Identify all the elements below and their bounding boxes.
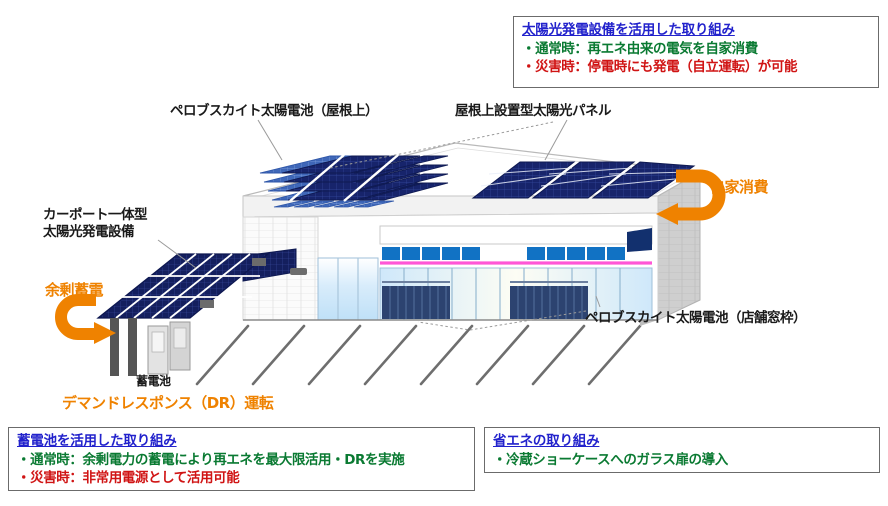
battery-storage-units <box>148 322 190 374</box>
label-surplus-storage: 余剰蓄電 <box>45 281 103 300</box>
signage-blue-right <box>527 247 625 260</box>
label-rooftop-panel: 屋根上設置型太陽光パネル <box>455 103 611 120</box>
label-carport-line2: 太陽光発電設備 <box>43 224 134 240</box>
signage-blue-left <box>382 247 480 260</box>
callout-battery-line-normal: ・通常時：余剰電力の蓄電により再エネを最大限活用・DRを実施 <box>17 452 466 470</box>
callout-solar-title: 太陽光発電設備を活用した取り組み <box>522 22 870 40</box>
callout-saving-title: 省エネの取り組み <box>493 433 871 451</box>
label-perovskite-roof: ペロブスカイト太陽電池（屋根上） <box>170 103 378 120</box>
callout-battery-title: 蓄電池を活用した取り組み <box>17 433 466 451</box>
label-self-consumption: 自家消費 <box>710 178 768 197</box>
surplus-storage-arrow <box>61 300 116 344</box>
callout-energy-saving: 省エネの取り組み ・冷蔵ショーケースへのガラス扉の導入 <box>484 427 880 473</box>
callout-solar-line-disaster: ・災害時：停電時にも発電（自立運転）が可能 <box>522 59 870 77</box>
label-carport-line1: カーポート一体型 <box>43 207 147 223</box>
callout-battery-line-disaster: ・災害時：非常用電源として活用可能 <box>17 470 466 488</box>
label-battery-unit: 蓄電池 <box>136 374 171 389</box>
label-carport-pv: カーポート一体型 太陽光発電設備 <box>43 207 147 241</box>
callout-solar-initiatives: 太陽光発電設備を活用した取り組み ・通常時：再エネ由来の電気を自家消費 ・災害時… <box>513 16 879 88</box>
callout-saving-line: ・冷蔵ショーケースへのガラス扉の導入 <box>493 452 871 470</box>
label-perovskite-window: ペロブスカイト太陽電池（店舗窓枠） <box>585 310 806 327</box>
figure-canvas: ペロブスカイト太陽電池（屋根上） 屋根上設置型太陽光パネル カーポート一体型 太… <box>0 0 888 506</box>
callout-battery-initiatives: 蓄電池を活用した取り組み ・通常時：余剰電力の蓄電により再エネを最大限活用・DR… <box>8 427 475 491</box>
parking-stripes <box>197 326 640 384</box>
label-demand-response: デマンドレスポンス（DR）運転 <box>62 394 273 413</box>
perovskite-window-left <box>382 282 450 319</box>
perovskite-window-right <box>510 282 588 319</box>
callout-solar-line-normal: ・通常時：再エネ由来の電気を自家消費 <box>522 41 870 59</box>
